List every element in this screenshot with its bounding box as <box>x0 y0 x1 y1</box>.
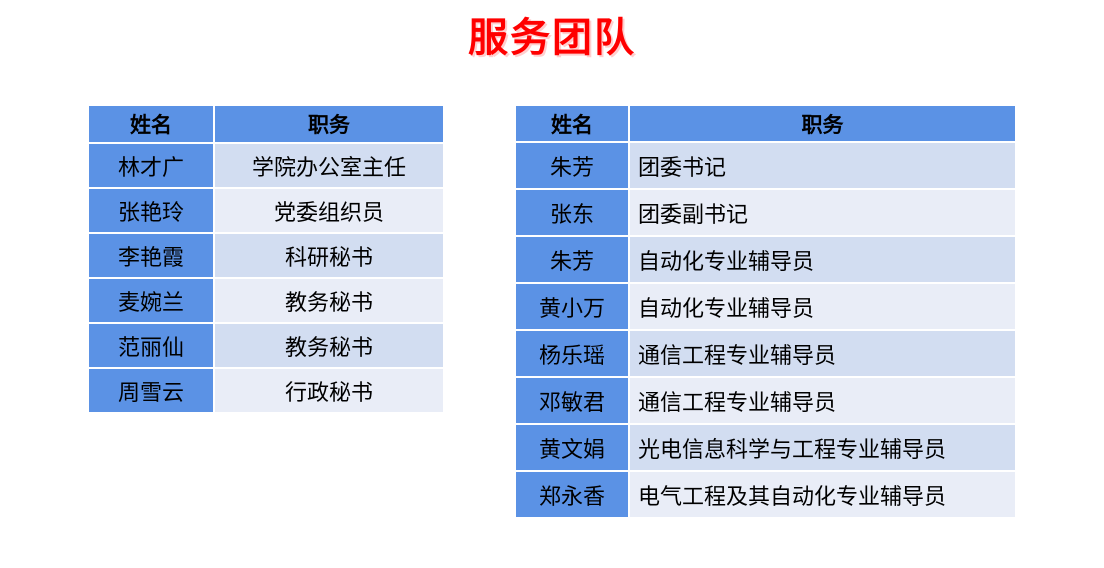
cell-role: 行政秘书 <box>215 369 443 412</box>
table-row: 周雪云行政秘书 <box>89 369 443 412</box>
table-row: 朱芳团委书记 <box>516 143 1015 190</box>
table-row: 郑永香电气工程及其自动化专业辅导员 <box>516 472 1015 517</box>
cell-name: 黄文娟 <box>516 425 630 472</box>
table-left-body: 林才广学院办公室主任张艳玲党委组织员李艳霞科研秘书麦婉兰教务秘书范丽仙教务秘书周… <box>89 144 443 412</box>
cell-role: 通信工程专业辅导员 <box>630 331 1015 378</box>
table-row: 杨乐瑶通信工程专业辅导员 <box>516 331 1015 378</box>
table-left-header-role: 职务 <box>215 106 443 144</box>
table-left-header: 姓名 职务 <box>89 106 443 144</box>
table-right-header: 姓名 职务 <box>516 106 1015 143</box>
cell-role: 自动化专业辅导员 <box>630 237 1015 284</box>
cell-role: 自动化专业辅导员 <box>630 284 1015 331</box>
table-row: 邓敏君通信工程专业辅导员 <box>516 378 1015 425</box>
table-right-header-name: 姓名 <box>516 106 630 143</box>
cell-name: 麦婉兰 <box>89 279 215 324</box>
cell-role: 通信工程专业辅导员 <box>630 378 1015 425</box>
cell-name: 朱芳 <box>516 237 630 284</box>
cell-name: 张东 <box>516 190 630 237</box>
table-row: 范丽仙教务秘书 <box>89 324 443 369</box>
cell-name: 黄小万 <box>516 284 630 331</box>
table-right-header-role: 职务 <box>630 106 1015 143</box>
table-row: 李艳霞科研秘书 <box>89 234 443 279</box>
staff-table-right: 姓名 职务 朱芳团委书记张东团委副书记朱芳自动化专业辅导员黄小万自动化专业辅导员… <box>516 106 1015 517</box>
cell-role: 教务秘书 <box>215 279 443 324</box>
cell-name: 周雪云 <box>89 369 215 412</box>
table-right-body: 朱芳团委书记张东团委副书记朱芳自动化专业辅导员黄小万自动化专业辅导员杨乐瑶通信工… <box>516 143 1015 517</box>
table-row: 张艳玲党委组织员 <box>89 189 443 234</box>
cell-role: 团委副书记 <box>630 190 1015 237</box>
cell-name: 李艳霞 <box>89 234 215 279</box>
cell-name: 邓敏君 <box>516 378 630 425</box>
cell-role: 教务秘书 <box>215 324 443 369</box>
cell-role: 学院办公室主任 <box>215 144 443 189</box>
table-row: 林才广学院办公室主任 <box>89 144 443 189</box>
cell-name: 郑永香 <box>516 472 630 517</box>
staff-table-left: 姓名 职务 林才广学院办公室主任张艳玲党委组织员李艳霞科研秘书麦婉兰教务秘书范丽… <box>89 106 443 412</box>
cell-name: 范丽仙 <box>89 324 215 369</box>
cell-role: 电气工程及其自动化专业辅导员 <box>630 472 1015 517</box>
table-left-header-name: 姓名 <box>89 106 215 144</box>
cell-role: 团委书记 <box>630 143 1015 190</box>
cell-name: 张艳玲 <box>89 189 215 234</box>
table-row: 张东团委副书记 <box>516 190 1015 237</box>
table-row: 朱芳自动化专业辅导员 <box>516 237 1015 284</box>
cell-name: 林才广 <box>89 144 215 189</box>
cell-role: 光电信息科学与工程专业辅导员 <box>630 425 1015 472</box>
cell-role: 党委组织员 <box>215 189 443 234</box>
table-row: 麦婉兰教务秘书 <box>89 279 443 324</box>
page-title: 服务团队 <box>0 14 1104 62</box>
table-row: 黄文娟光电信息科学与工程专业辅导员 <box>516 425 1015 472</box>
table-left-header-row: 姓名 职务 <box>89 106 443 144</box>
table-row: 黄小万自动化专业辅导员 <box>516 284 1015 331</box>
table-right-header-row: 姓名 职务 <box>516 106 1015 143</box>
cell-name: 朱芳 <box>516 143 630 190</box>
cell-name: 杨乐瑶 <box>516 331 630 378</box>
cell-role: 科研秘书 <box>215 234 443 279</box>
